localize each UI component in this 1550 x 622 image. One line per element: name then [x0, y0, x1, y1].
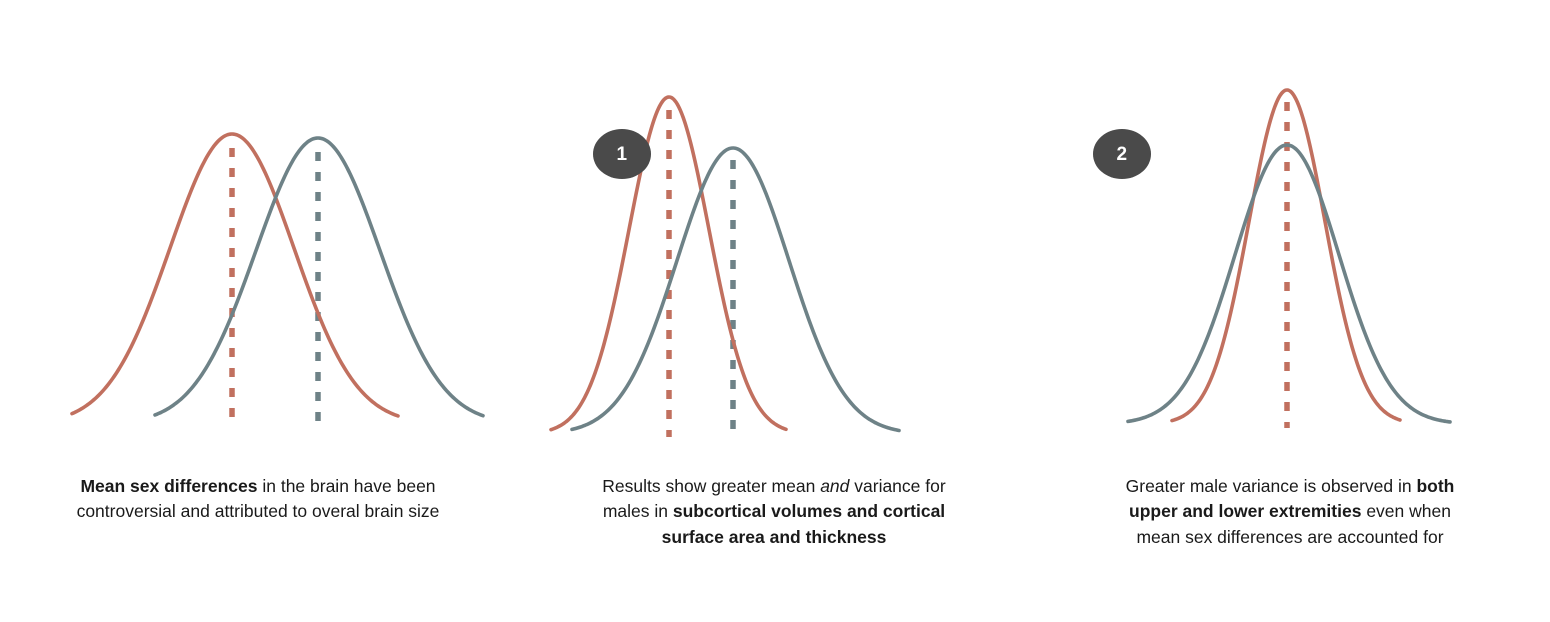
caption-segment: and [820, 476, 849, 496]
chart-svg-3 [1032, 0, 1548, 460]
step-badge-2[interactable]: 2 [1093, 129, 1151, 179]
distribution-chart-2 [516, 0, 1032, 460]
caption-segment: Results show greater mean [602, 476, 820, 496]
distribution-chart-1 [0, 0, 516, 460]
distribution-curve-male [72, 134, 398, 416]
panel-mean-differences: Mean sex differences in the brain have b… [0, 0, 516, 622]
distribution-explainer-figure: Mean sex differences in the brain have b… [0, 0, 1550, 622]
chart-svg-2 [516, 0, 1032, 460]
step-badge-1[interactable]: 1 [593, 129, 651, 179]
chart-svg-1 [0, 0, 516, 460]
caption-segment: Mean sex differences [80, 476, 257, 496]
panel-caption-1: Mean sex differences in the brain have b… [58, 474, 458, 525]
caption-segment: Greater male variance is observed in [1126, 476, 1417, 496]
panel-caption-3: Greater male variance is observed in bot… [1110, 474, 1470, 550]
distribution-chart-3 [1032, 0, 1548, 460]
panel-upper-lower-extremities: Greater male variance is observed in bot… [1032, 0, 1548, 622]
panel-greater-mean-and-variance: Results show greater mean and variance f… [516, 0, 1032, 622]
panel-caption-2: Results show greater mean and variance f… [588, 474, 960, 550]
caption-segment: subcortical volumes and cortical surface… [662, 501, 946, 546]
distribution-curve-male [551, 97, 786, 430]
